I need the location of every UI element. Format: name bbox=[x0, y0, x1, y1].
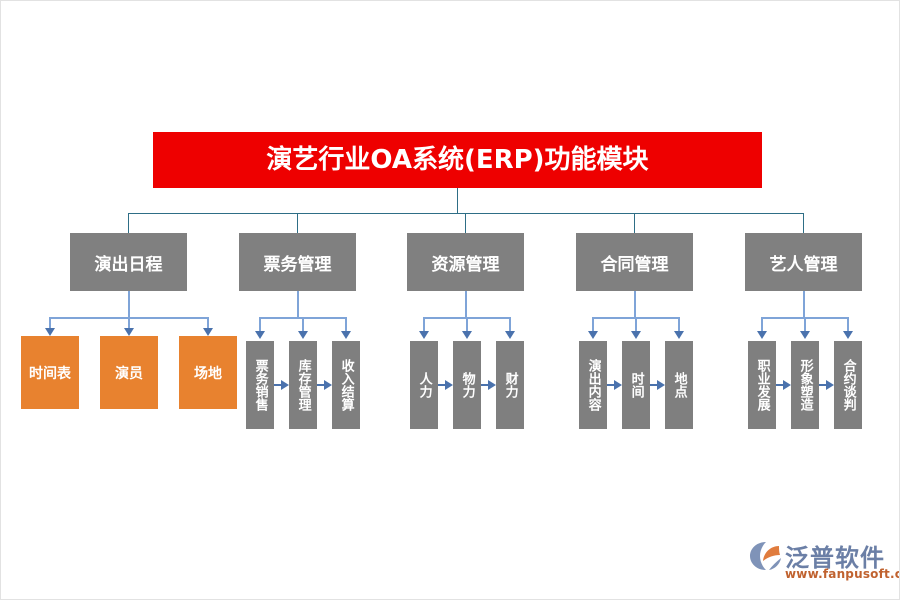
arrow-right-icon bbox=[614, 380, 622, 390]
leaf-label: 票务销售 bbox=[253, 359, 266, 411]
leaf-box-shijian[interactable]: 时间 bbox=[622, 341, 650, 429]
leaf-box-zhiyefazhan[interactable]: 职业发展 bbox=[748, 341, 776, 429]
leaf-label: 财力 bbox=[503, 372, 516, 398]
diagram-canvas: 演艺行业OA系统(ERP)功能模块 演出日程 票务管理 资源管理 合同管理 艺人… bbox=[0, 0, 900, 600]
arrow-down-icon bbox=[419, 331, 429, 339]
diagram-title-box: 演艺行业OA系统(ERP)功能模块 bbox=[153, 132, 762, 188]
leaf-label: 演员 bbox=[115, 363, 143, 383]
arrow-down-icon bbox=[255, 331, 265, 339]
branch-label: 演出日程 bbox=[95, 250, 163, 275]
connector-drop-1 bbox=[128, 213, 129, 233]
arrow-right-icon bbox=[826, 380, 834, 390]
leaf-label: 场地 bbox=[194, 363, 222, 383]
arrow-down-icon bbox=[631, 331, 641, 339]
connector-branch1-stem bbox=[128, 291, 130, 319]
leaf-box-heyuetanpan[interactable]: 合约谈判 bbox=[834, 341, 862, 429]
branch-label: 票务管理 bbox=[264, 250, 332, 275]
leaf-box-shourujiesuan[interactable]: 收入结算 bbox=[332, 341, 360, 429]
arrow-right-icon bbox=[324, 380, 332, 390]
leaf-box-caili[interactable]: 财力 bbox=[496, 341, 524, 429]
branch-box-yirenguanli[interactable]: 艺人管理 bbox=[745, 233, 862, 291]
leaf-label: 地点 bbox=[672, 372, 685, 398]
branch-box-yanchurichеng[interactable]: 演出日程 bbox=[70, 233, 187, 291]
leaf-box-shijianbiao[interactable]: 时间表 bbox=[21, 336, 79, 409]
leaf-box-piaowuxiaoshou[interactable]: 票务销售 bbox=[246, 341, 274, 429]
leaf-label: 收入结算 bbox=[339, 359, 352, 411]
leaf-box-yanchuneirong[interactable]: 演出内容 bbox=[579, 341, 607, 429]
leaf-box-wuli[interactable]: 物力 bbox=[453, 341, 481, 429]
connector-drop-4 bbox=[634, 213, 635, 233]
arrow-down-icon bbox=[298, 331, 308, 339]
brand-url: www.fanpusoft.com bbox=[785, 567, 900, 581]
arrow-right-icon bbox=[445, 380, 453, 390]
arrow-down-icon bbox=[674, 331, 684, 339]
branch-box-piaowuguanli[interactable]: 票务管理 bbox=[239, 233, 356, 291]
leaf-label: 职业发展 bbox=[755, 359, 768, 411]
branch-label: 合同管理 bbox=[601, 250, 669, 275]
connector-branch4-stem bbox=[634, 291, 636, 319]
arrow-right-icon bbox=[488, 380, 496, 390]
leaf-label: 物力 bbox=[460, 372, 473, 398]
arrow-down-icon bbox=[462, 331, 472, 339]
arrow-down-icon bbox=[203, 328, 213, 336]
arrow-right-icon bbox=[783, 380, 791, 390]
connector-branch3-stem bbox=[465, 291, 467, 319]
leaf-box-renli[interactable]: 人力 bbox=[410, 341, 438, 429]
branch-box-ziyuanguanli[interactable]: 资源管理 bbox=[407, 233, 524, 291]
arrow-down-icon bbox=[341, 331, 351, 339]
arrow-down-icon bbox=[843, 331, 853, 339]
leaf-label: 库存管理 bbox=[296, 359, 309, 411]
connector-drop-2 bbox=[297, 213, 298, 233]
arrow-right-icon bbox=[657, 380, 665, 390]
leaf-box-kucunguanli[interactable]: 库存管理 bbox=[289, 341, 317, 429]
diagram-title: 演艺行业OA系统(ERP)功能模块 bbox=[266, 147, 648, 173]
branch-label: 资源管理 bbox=[432, 250, 500, 275]
arrow-down-icon bbox=[505, 331, 515, 339]
leaf-box-didian[interactable]: 地点 bbox=[665, 341, 693, 429]
arrow-down-icon bbox=[757, 331, 767, 339]
arrow-right-icon bbox=[281, 380, 289, 390]
branch-box-hetongguanli[interactable]: 合同管理 bbox=[576, 233, 693, 291]
arrow-down-icon bbox=[45, 328, 55, 336]
fanpu-swoosh-icon bbox=[749, 541, 783, 571]
leaf-box-changdi[interactable]: 场地 bbox=[179, 336, 237, 409]
connector-branch2-stem bbox=[297, 291, 299, 319]
brand-logo: 泛普软件 www.fanpusoft.com bbox=[749, 537, 893, 585]
leaf-label: 合约谈判 bbox=[841, 359, 854, 411]
branch-label: 艺人管理 bbox=[770, 250, 838, 275]
leaf-box-yanyuan[interactable]: 演员 bbox=[100, 336, 158, 409]
leaf-label: 人力 bbox=[417, 372, 430, 398]
leaf-label: 演出内容 bbox=[586, 359, 599, 411]
arrow-down-icon bbox=[124, 328, 134, 336]
leaf-label: 时间表 bbox=[29, 363, 71, 383]
arrow-down-icon bbox=[588, 331, 598, 339]
arrow-down-icon bbox=[800, 331, 810, 339]
connector-drop-3 bbox=[465, 213, 466, 233]
leaf-box-xingxiangsuzao[interactable]: 形象塑造 bbox=[791, 341, 819, 429]
leaf-label: 形象塑造 bbox=[798, 359, 811, 411]
connector-title-stem bbox=[457, 188, 458, 214]
connector-branch5-stem bbox=[803, 291, 805, 319]
leaf-label: 时间 bbox=[629, 372, 642, 398]
connector-drop-5 bbox=[803, 213, 804, 233]
